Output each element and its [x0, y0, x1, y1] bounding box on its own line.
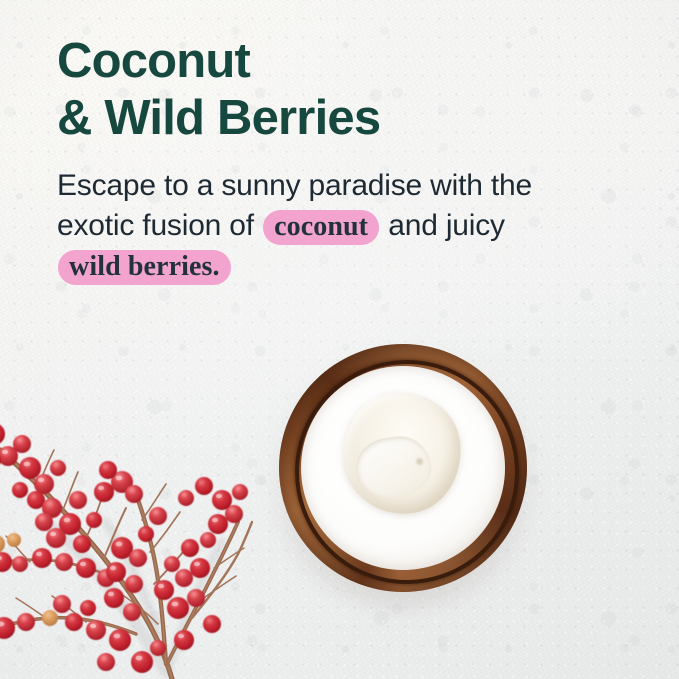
highlight-coconut: coconut — [263, 210, 379, 245]
coconut-half-photo: Halved coconut showing white meat and br… — [279, 344, 527, 592]
berries — [0, 423, 248, 673]
copy-block: Coconut & Wild Berries Escape to a sunny… — [57, 33, 577, 286]
page-title: Coconut & Wild Berries — [57, 33, 577, 147]
highlight-wild-berries: wild berries. — [58, 250, 231, 285]
subcopy-segment-2: and juicy — [380, 209, 505, 242]
coconut-alt-text: Halved coconut showing white meat and br… — [279, 344, 280, 345]
coconut-cavity-fold — [353, 433, 434, 502]
subcopy: Escape to a sunny paradise with the exot… — [57, 147, 557, 286]
wild-berry-branch-photo: Branch of red wild berries spreading fro… — [0, 372, 262, 679]
product-banner: Coconut & Wild Berries Escape to a sunny… — [0, 0, 679, 679]
headline-line-1: Coconut — [57, 34, 250, 88]
berry-branch-svg — [0, 372, 262, 679]
headline-line-2: & Wild Berries — [57, 90, 577, 147]
